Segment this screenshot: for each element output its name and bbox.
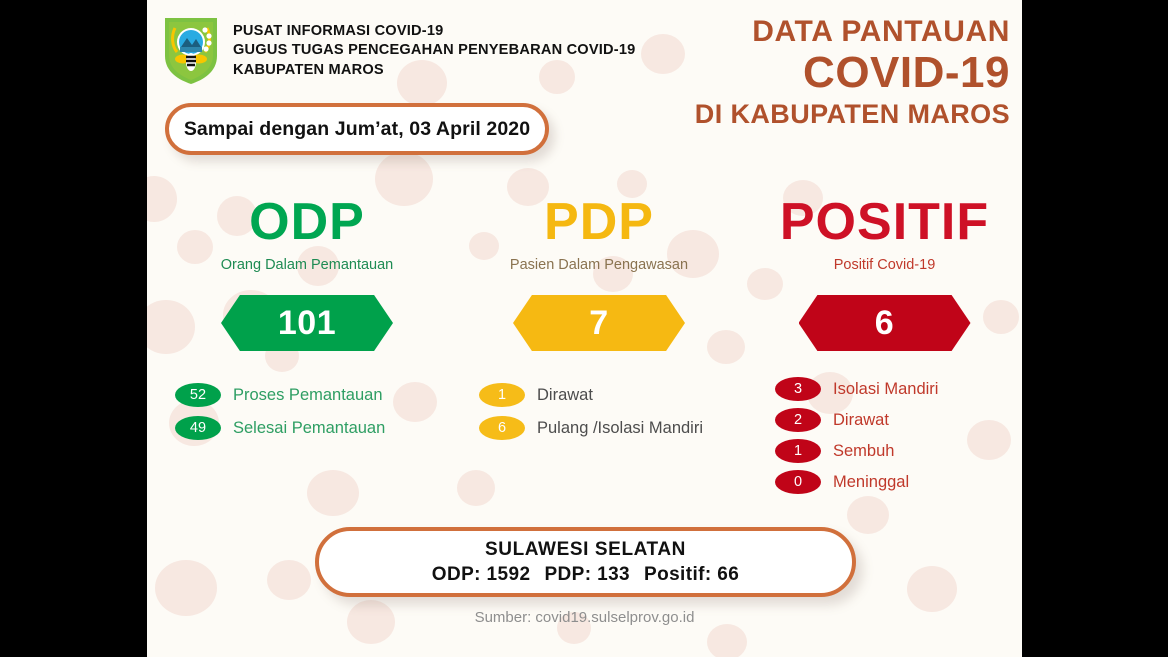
odp-row-label: Selesai Pemantauan	[233, 419, 385, 438]
organization-name: PUSAT INFORMASI COVID-19 GUGUS TUGAS PEN…	[233, 14, 635, 80]
screenshot-stage: PUSAT INFORMASI COVID-19 GUGUS TUGAS PEN…	[0, 0, 1168, 657]
positif-breakdown-row: 1 Sembuh	[775, 439, 1022, 463]
province-summary-box: SULAWESI SELATAN ODP: 1592PDP: 133Positi…	[315, 527, 856, 597]
positif-row-label: Sembuh	[833, 442, 894, 461]
pdp-total-value: 7	[513, 295, 685, 351]
positif-title: POSITIF	[747, 196, 1022, 248]
positif-total-banner: 6	[747, 295, 1022, 351]
maros-regency-crest-icon	[161, 14, 221, 86]
stat-column-positif: POSITIF Positif Covid-19 6 3 Isolasi Man…	[747, 196, 1022, 501]
odp-row-value: 52	[175, 383, 221, 407]
date-banner-text: Sampai dengan Jum’at, 03 April 2020	[184, 118, 530, 141]
background-blob	[907, 566, 957, 612]
title-line-data-pantauan: DATA PANTAUAN	[695, 16, 1010, 48]
positif-breakdown-row: 2 Dirawat	[775, 408, 1022, 432]
odp-total-banner: 101	[157, 295, 457, 351]
summary-region-name: SULAWESI SELATAN	[485, 539, 686, 561]
pdp-row-value: 6	[479, 416, 525, 440]
pdp-breakdown-row: 1 Dirawat	[479, 383, 739, 407]
org-line-2: GUGUS TUGAS PENCEGAHAN PENYEBARAN COVID-…	[233, 41, 635, 60]
pdp-breakdown-list: 1 Dirawat 6 Pulang /Isolasi Mandiri	[459, 383, 739, 440]
odp-subtitle: Orang Dalam Pemantauan	[157, 257, 457, 273]
odp-breakdown-row: 49 Selesai Pemantauan	[175, 416, 457, 440]
positif-row-label: Meninggal	[833, 473, 909, 492]
stat-column-pdp: PDP Pasien Dalam Pengawasan 7 1 Dirawat …	[459, 196, 739, 449]
odp-total-value: 101	[221, 295, 393, 351]
odp-breakdown-row: 52 Proses Pemantauan	[175, 383, 457, 407]
organization-header: PUSAT INFORMASI COVID-19 GUGUS TUGAS PEN…	[161, 14, 635, 86]
positif-subtitle: Positif Covid-19	[747, 257, 1022, 273]
summary-figures: ODP: 1592PDP: 133Positif: 66	[432, 564, 739, 586]
summary-positif: Positif: 66	[644, 564, 739, 585]
odp-row-label: Proses Pemantauan	[233, 386, 383, 405]
positif-total-value: 6	[799, 295, 971, 351]
positif-breakdown-list: 3 Isolasi Mandiri 2 Dirawat 1 Sembuh 0 M…	[747, 377, 1022, 494]
title-line-covid19: COVID-19	[695, 50, 1010, 97]
org-line-1: PUSAT INFORMASI COVID-19	[233, 22, 635, 41]
positif-row-label: Isolasi Mandiri	[833, 380, 938, 399]
odp-row-value: 49	[175, 416, 221, 440]
positif-breakdown-row: 0 Meninggal	[775, 470, 1022, 494]
pdp-title: PDP	[459, 196, 739, 248]
positif-row-label: Dirawat	[833, 411, 889, 430]
infographic-poster: PUSAT INFORMASI COVID-19 GUGUS TUGAS PEN…	[147, 0, 1022, 657]
pdp-row-value: 1	[479, 383, 525, 407]
background-blob	[307, 470, 359, 516]
odp-title: ODP	[157, 196, 457, 248]
summary-odp: ODP: 1592	[432, 564, 531, 585]
summary-pdp: PDP: 133	[544, 564, 630, 585]
background-blob	[267, 560, 311, 600]
positif-row-value: 3	[775, 377, 821, 401]
pdp-row-label: Pulang /Isolasi Mandiri	[537, 419, 703, 438]
pdp-subtitle: Pasien Dalam Pengawasan	[459, 257, 739, 273]
stat-column-odp: ODP Orang Dalam Pemantauan 101 52 Proses…	[157, 196, 457, 449]
background-blob	[847, 496, 889, 534]
background-blob	[707, 624, 747, 657]
org-line-3: KABUPATEN MAROS	[233, 61, 635, 80]
pdp-total-banner: 7	[459, 295, 739, 351]
odp-breakdown-list: 52 Proses Pemantauan 49 Selesai Pemantau…	[157, 383, 457, 440]
date-banner: Sampai dengan Jum’at, 03 April 2020	[165, 103, 549, 155]
pdp-row-label: Dirawat	[537, 386, 593, 405]
positif-row-value: 2	[775, 408, 821, 432]
background-blob	[155, 560, 217, 616]
positif-breakdown-row: 3 Isolasi Mandiri	[775, 377, 1022, 401]
poster-title: DATA PANTAUAN COVID-19 DI KABUPATEN MARO…	[695, 16, 1010, 129]
background-blob	[457, 470, 495, 506]
positif-row-value: 0	[775, 470, 821, 494]
title-line-kabupaten-maros: DI KABUPATEN MAROS	[695, 100, 1010, 129]
background-blob	[641, 34, 685, 74]
pdp-breakdown-row: 6 Pulang /Isolasi Mandiri	[479, 416, 739, 440]
positif-row-value: 1	[775, 439, 821, 463]
source-credit: Sumber: covid19.sulselprov.go.id	[147, 609, 1022, 626]
